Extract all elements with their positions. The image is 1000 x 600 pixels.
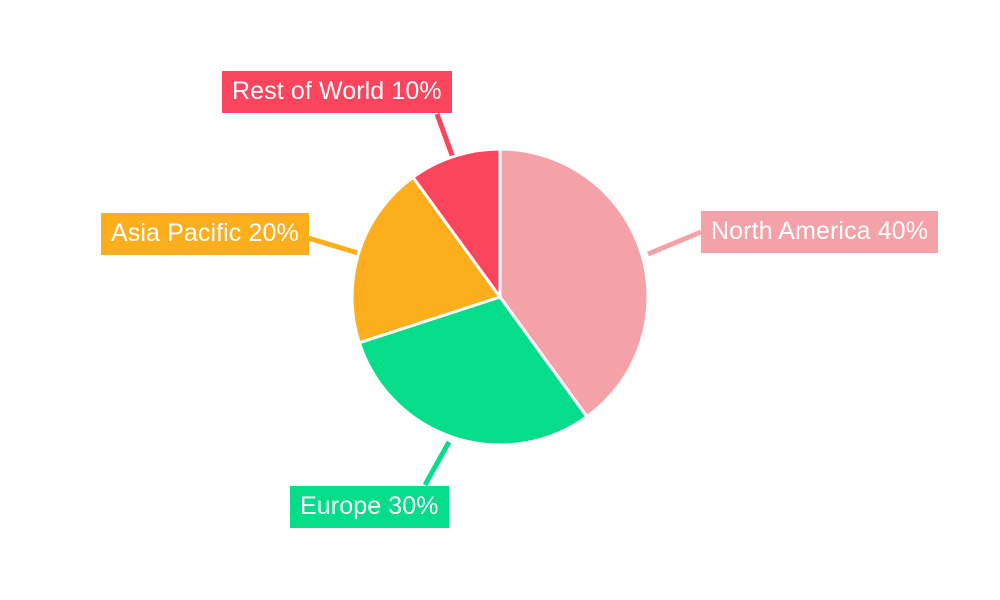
- pie-label-north-america-text: North America 40%: [711, 219, 928, 244]
- pie-label-europe-text: Europe 30%: [300, 494, 439, 519]
- leader-line-europe: [425, 442, 449, 485]
- leader-line-north-america: [648, 232, 701, 254]
- pie-label-north-america[interactable]: North America 40%: [701, 211, 938, 253]
- pie-chart: North America 40% Europe 30% Asia Pacifi…: [0, 0, 1000, 600]
- pie-slices: [352, 149, 648, 445]
- pie-label-asia-pacific-text: Asia Pacific 20%: [111, 221, 299, 246]
- pie-label-rest-of-world-text: Rest of World 10%: [232, 79, 442, 104]
- pie-label-europe[interactable]: Europe 30%: [290, 486, 449, 528]
- pie-label-asia-pacific[interactable]: Asia Pacific 20%: [101, 213, 309, 255]
- pie-label-rest-of-world[interactable]: Rest of World 10%: [222, 71, 452, 113]
- pie-chart-svg: [0, 0, 1000, 600]
